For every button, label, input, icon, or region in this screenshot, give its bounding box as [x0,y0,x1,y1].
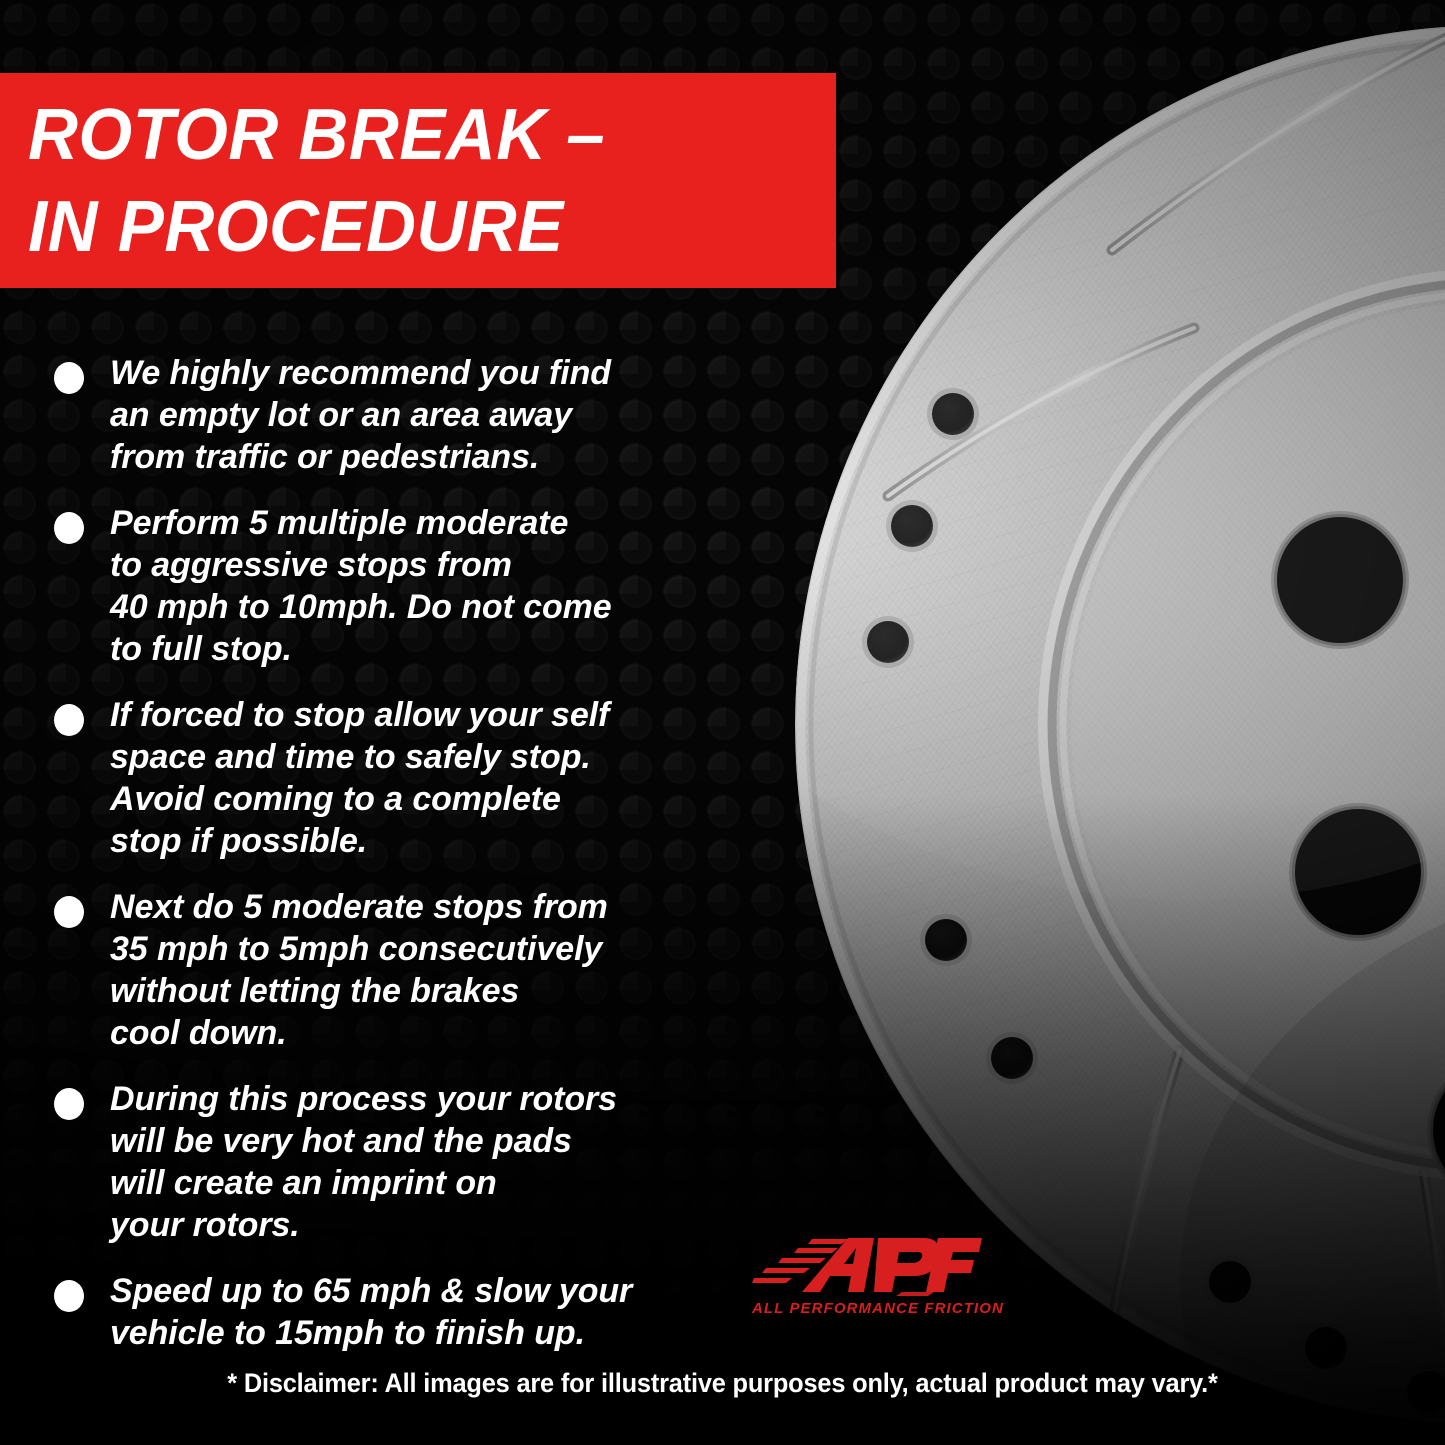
list-item: During this process your rotors will be … [48,1078,758,1246]
disclaimer-text: * Disclaimer: All images are for illustr… [43,1368,1401,1399]
list-item-text: We highly recommend you find an empty lo… [110,352,758,478]
bullet-dot-icon [54,512,84,544]
list-item: Perform 5 multiple moderate to aggressiv… [48,502,758,670]
list-item-text: During this process your rotors will be … [110,1078,758,1246]
apf-logo: ALL PERFORMANCE FRICTION [752,1232,982,1324]
apf-logo-tagline: ALL PERFORMANCE FRICTION [752,1300,982,1317]
procedure-list: We highly recommend you find an empty lo… [48,352,758,1378]
page-title-line-2: IN PROCEDURE [28,181,804,273]
bullet-dot-icon [54,704,84,736]
list-item: If forced to stop allow your self space … [48,694,758,862]
list-item: Speed up to 65 mph & slow your vehicle t… [48,1270,758,1354]
infographic-canvas: ROTOR BREAK – IN PROCEDURE We highly rec… [0,0,1445,1445]
list-item-text: Speed up to 65 mph & slow your vehicle t… [110,1270,758,1354]
bullet-dot-icon [54,362,84,394]
list-item-text: Perform 5 multiple moderate to aggressiv… [110,502,758,670]
bullet-dot-icon [54,1088,84,1120]
list-item: We highly recommend you find an empty lo… [48,352,758,478]
bullet-dot-icon [54,896,84,928]
list-item: Next do 5 moderate stops from 35 mph to … [48,886,758,1054]
bullet-dot-icon [54,1280,84,1312]
list-item-text: Next do 5 moderate stops from 35 mph to … [110,886,758,1054]
page-title-line-1: ROTOR BREAK – [28,89,804,181]
title-banner: ROTOR BREAK – IN PROCEDURE [0,73,836,288]
apf-logo-icon [752,1232,982,1298]
list-item-text: If forced to stop allow your self space … [110,694,758,862]
